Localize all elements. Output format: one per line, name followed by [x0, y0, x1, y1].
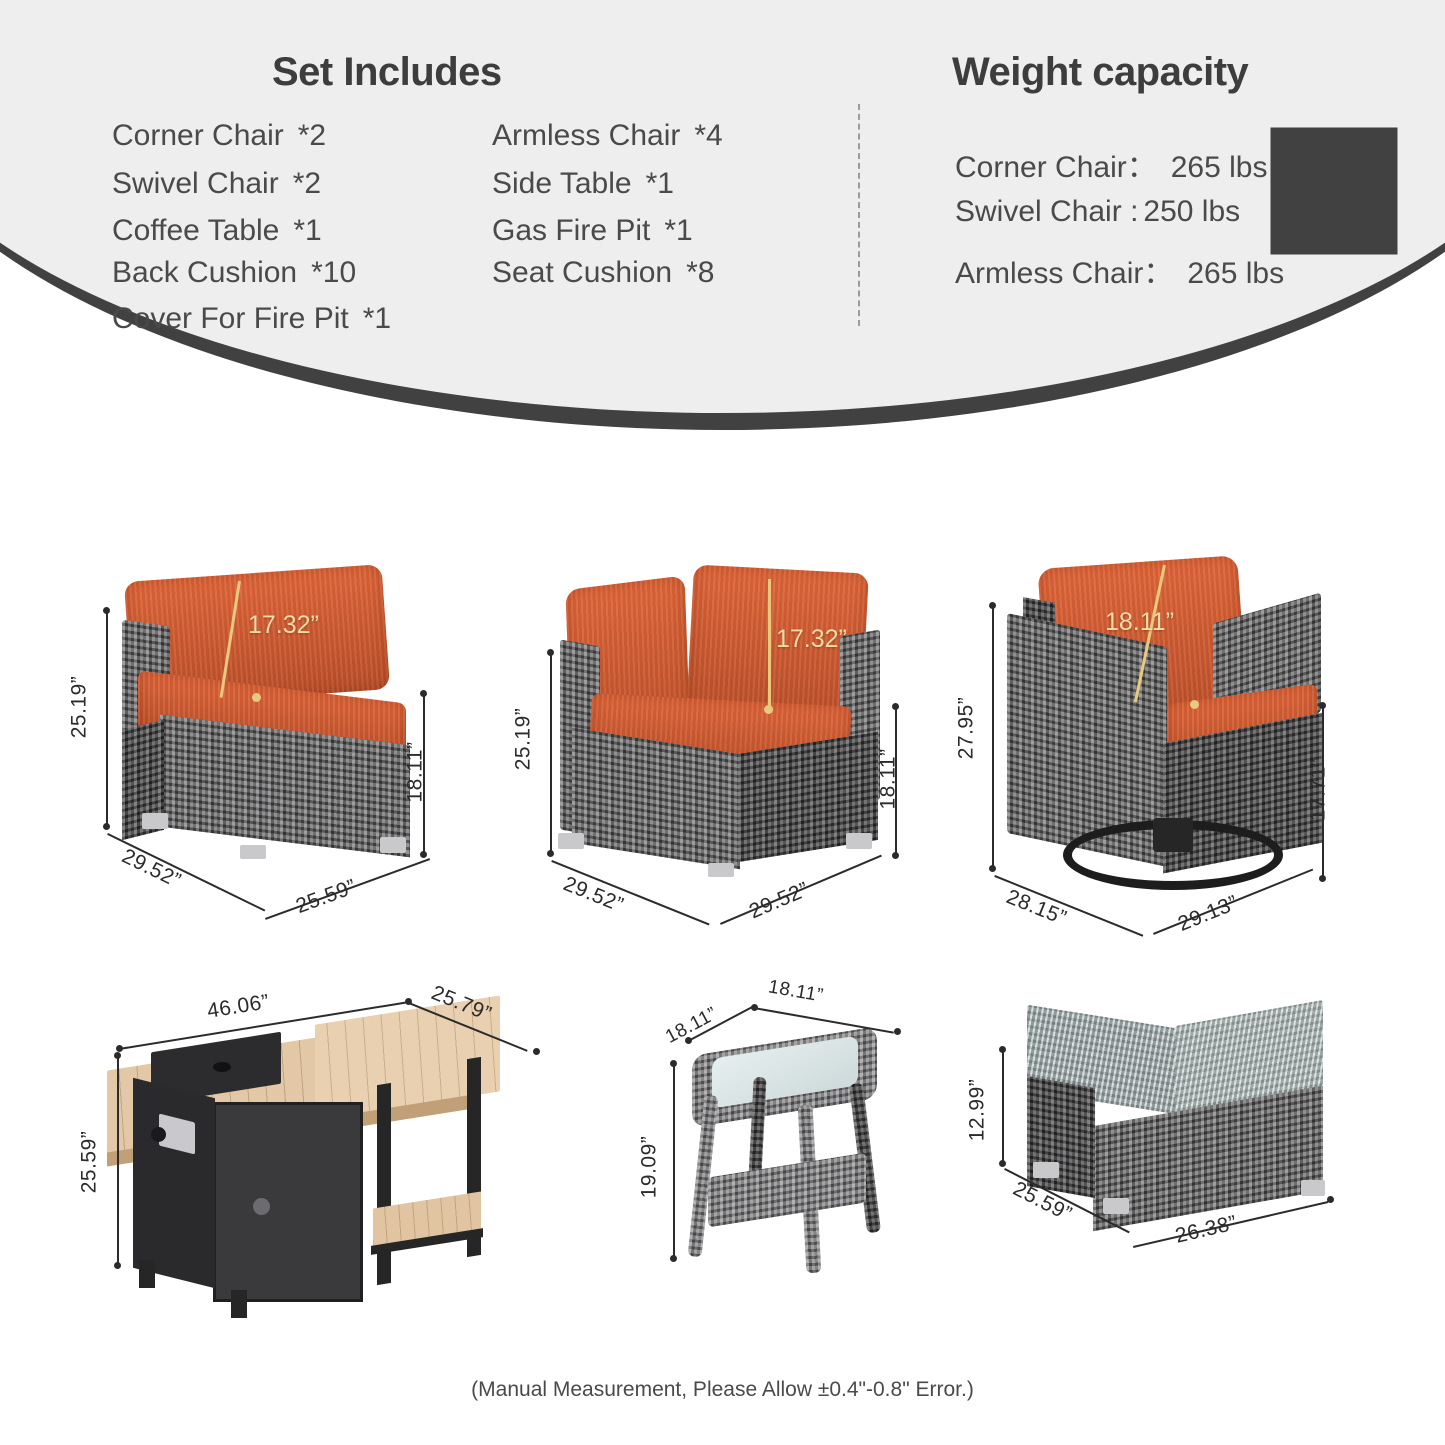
weight-row-separator: ： — [1127, 151, 1157, 184]
armless-back-cushion-dim: 17.32” — [248, 611, 319, 640]
coffeetable-foot-right — [1301, 1180, 1325, 1196]
sidetable-height-line — [673, 1064, 675, 1257]
firepit-depth-dot — [533, 1048, 540, 1055]
armless-cushion-measure-dot — [252, 693, 261, 702]
sidetable-width-line — [754, 1007, 894, 1033]
set-item-label: Coffee Table — [112, 214, 279, 247]
product-armless-chair: 17.32” 25.19” 18.11” 29.52” 25.59” — [90, 545, 480, 945]
corner-seat-height-dim: 18.11” — [877, 749, 901, 810]
sidetable-lower-shelf — [708, 1152, 866, 1227]
sidetable-height-dim: 19.09” — [637, 1136, 661, 1199]
firepit-height-dim: 25.59” — [77, 1131, 101, 1194]
set-item-label: Side Table — [492, 167, 632, 200]
set-item-qty: *1 — [363, 302, 391, 335]
set-item-armless-chair: Armless Chair*4 — [492, 119, 723, 153]
set-item-cover-for-fire-pit: Cover For Fire Pit*1 — [112, 302, 391, 336]
swivel-height-line — [992, 606, 994, 868]
product-side-table: 18.11” 18.11” 19.09” — [650, 1005, 950, 1305]
weight-row-swivel-chair: Swivel Chair :250 lbs — [955, 195, 1240, 229]
weight-row-value: 250 lbs — [1143, 195, 1240, 228]
coffeetable-height-dot-bottom — [999, 1160, 1006, 1167]
sidetable-depth-dim: 18.11” — [662, 1003, 721, 1048]
sidetable-width-dot-left — [751, 1004, 758, 1011]
swivel-height-dim: 27.95” — [954, 697, 978, 760]
armless-foot-right — [380, 837, 406, 853]
firepit-leg-back — [377, 1083, 391, 1285]
header-vertical-divider — [858, 104, 860, 326]
set-item-label: Swivel Chair — [112, 167, 279, 200]
weight-row-armless-chair: Armless Chair：265 lbs — [955, 248, 1284, 292]
set-item-label: Seat Cushion — [492, 256, 672, 289]
set-item-label: Corner Chair — [112, 119, 284, 152]
armless-seat-height-dim: 18.11” — [404, 742, 428, 803]
armless-height-dim-dot-bottom — [103, 823, 110, 830]
set-item-swivel-chair: Swivel Chair*2 — [112, 167, 321, 201]
weight-row-separator: : — [1130, 195, 1138, 228]
swivel-base-post — [1153, 818, 1193, 852]
armless-height-dim: 25.19” — [67, 676, 91, 739]
set-item-qty: *1 — [646, 167, 674, 200]
corner-foot-right — [846, 833, 872, 849]
product-gas-fire-pit: 46.06” 25.79” 25.59” — [85, 990, 565, 1340]
corner-height-dot-bottom — [547, 850, 554, 857]
weight-row-value: 265 lbs — [1171, 151, 1268, 184]
product-coffee-table: 12.99” 25.59” 26.38” — [975, 1010, 1375, 1290]
coffeetable-width-dim: 26.38” — [1173, 1211, 1239, 1248]
set-item-corner-chair: Corner Chair*2 — [112, 119, 326, 153]
firepit-width-dim: 46.06” — [206, 990, 272, 1023]
coffeetable-foot-left — [1033, 1162, 1059, 1178]
set-item-seat-cushion: Seat Cushion*8 — [492, 256, 714, 290]
set-item-qty: *2 — [293, 167, 321, 200]
firepit-cabinet-side — [133, 1078, 215, 1288]
armless-height-dim-line — [106, 611, 108, 826]
coffeetable-foot-mid — [1103, 1198, 1129, 1214]
corner-seat-height-dot-bottom — [892, 852, 899, 859]
corner-height-dim: 25.19” — [511, 708, 535, 771]
firepit-height-line — [117, 1056, 119, 1264]
set-item-qty: *8 — [686, 256, 714, 289]
corner-cushion-measure-dot — [764, 705, 773, 714]
corner-cushion-measure-line — [768, 579, 771, 709]
set-item-qty: *2 — [298, 119, 326, 152]
weight-row-value: 265 lbs — [1187, 257, 1284, 290]
weight-row-corner-chair: Corner Chair：265 lbs — [955, 142, 1267, 186]
armless-foot-mid — [240, 845, 266, 859]
firepit-foot-mid — [231, 1290, 247, 1318]
swivel-height-dot-bottom — [989, 865, 996, 872]
product-corner-chair: 17.32” 25.19” 18.11” 29.52” 29.52” — [510, 545, 920, 945]
set-item-label: Armless Chair — [492, 119, 680, 152]
swivel-seat-height-dot-bottom — [1319, 875, 1326, 882]
sidetable-width-dot-right — [894, 1028, 901, 1035]
sidetable-depth-dot-left — [685, 1037, 692, 1044]
spec-sheet-page: Set Includes Weight capacity Corner Chai… — [0, 0, 1445, 1445]
set-item-qty: *1 — [664, 214, 692, 247]
set-item-label: Cover For Fire Pit — [112, 302, 349, 335]
set-item-qty: *4 — [694, 119, 722, 152]
set-item-qty: *1 — [293, 214, 321, 247]
corner-height-line — [550, 653, 552, 853]
firepit-foot-left — [139, 1260, 155, 1288]
set-item-coffee-table: Coffee Table*1 — [112, 214, 322, 248]
weight-row-separator: ： — [1143, 257, 1173, 290]
coffeetable-height-line — [1002, 1050, 1004, 1162]
set-item-gas-fire-pit: Gas Fire Pit*1 — [492, 214, 693, 248]
firepit-height-dot-bottom — [114, 1262, 121, 1269]
weight-capacity-title: Weight capacity — [952, 50, 1248, 95]
sidetable-width-dim: 18.11” — [767, 976, 825, 1007]
corner-foot-mid — [708, 863, 734, 877]
armless-seat-height-dot-bottom — [420, 851, 427, 858]
set-item-back-cushion: Back Cushion*10 — [112, 256, 356, 290]
firepit-cabinet-knob — [253, 1198, 270, 1215]
weight-row-label: Corner Chair — [955, 151, 1127, 184]
swivel-seat-height-dim: 17.71” — [1306, 759, 1330, 822]
corner-width-dim: 29.52” — [746, 878, 813, 925]
swivel-back-cushion-dim: 18.11” — [1105, 608, 1174, 637]
swivel-width-dim: 29.13” — [1175, 891, 1242, 937]
firepit-burner-hole — [213, 1062, 231, 1072]
set-item-qty: *10 — [311, 256, 356, 289]
swivel-cushion-measure-dot — [1190, 700, 1199, 709]
armless-depth-dim: 29.52” — [118, 845, 185, 894]
coffeetable-height-dim: 12.99” — [965, 1079, 989, 1142]
corner-foot-left — [558, 833, 584, 849]
coffeetable-width-dot-right — [1327, 1196, 1334, 1203]
coffeetable-body-side — [1027, 1076, 1095, 1198]
set-item-side-table: Side Table*1 — [492, 167, 674, 201]
firepit-cabinet-front — [213, 1102, 363, 1302]
set-item-label: Back Cushion — [112, 256, 297, 289]
sidetable-height-dot-bottom — [670, 1255, 677, 1262]
firepit-width-dot-left — [116, 1045, 123, 1052]
weight-row-label: Armless Chair — [955, 257, 1143, 290]
header-content: Set Includes Weight capacity Corner Chai… — [0, 0, 1445, 360]
set-item-label: Gas Fire Pit — [492, 214, 650, 247]
corner-back-cushion-dim: 17.32” — [776, 625, 847, 654]
product-swivel-chair: 18.11” 27.95” 17.71” 28.15” 29.13” — [945, 530, 1365, 945]
set-includes-title: Set Includes — [272, 50, 502, 95]
measurement-disclaimer: (Manual Measurement, Please Allow ±0.4"-… — [0, 1378, 1445, 1402]
armless-width-dim: 25.59” — [293, 875, 360, 919]
firepit-control-knob — [151, 1127, 166, 1142]
corner-depth-dim: 29.52” — [560, 872, 627, 918]
armless-foot-left — [142, 813, 168, 829]
weight-row-label: Swivel Chair — [955, 195, 1122, 228]
